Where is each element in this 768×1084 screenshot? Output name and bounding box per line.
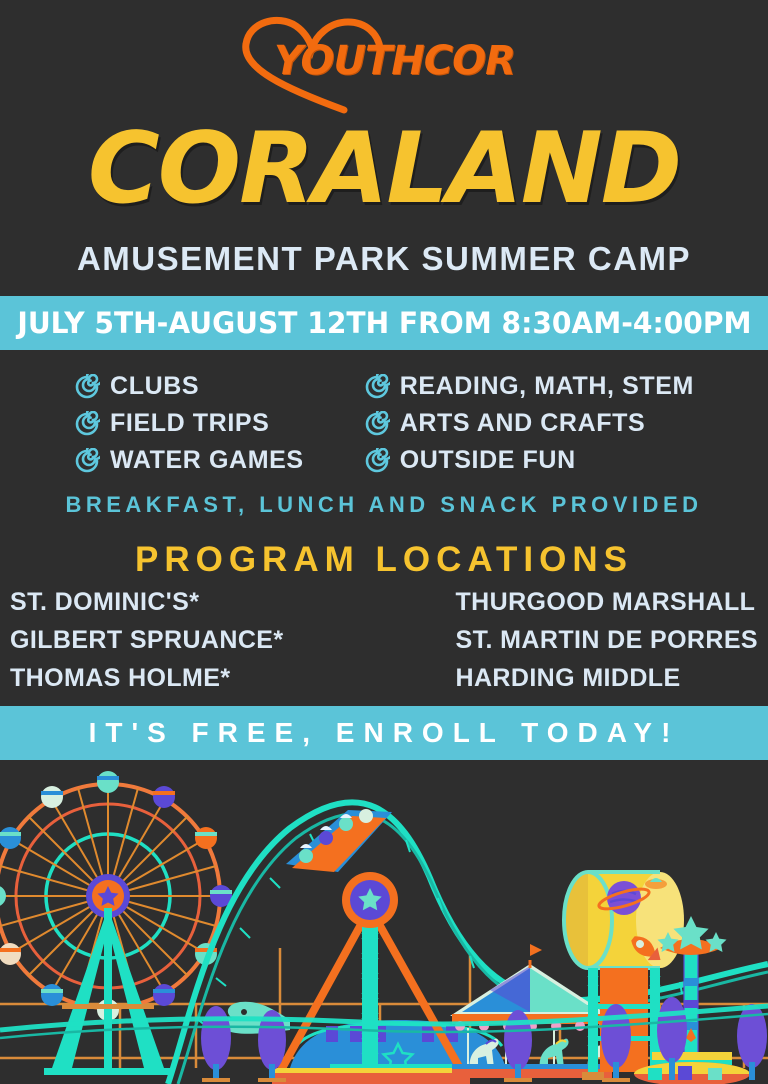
amusement-park-illustration: [0, 768, 768, 1084]
feature-label: FIELD TRIPS: [110, 409, 269, 438]
location-item: THOMAS HOLME*: [10, 664, 284, 693]
feature-item: CLUBS: [74, 372, 304, 401]
features-column-right: READING, MATH, STEM ARTS AND CRAFTS OUTS…: [364, 372, 694, 475]
location-item: HARDING MIDDLE: [456, 664, 681, 693]
feature-item: ARTS AND CRAFTS: [364, 409, 694, 438]
location-item: ST. MARTIN DE PORRES: [456, 626, 758, 655]
date-banner-text: JULY 5TH-AUGUST 12TH FROM 8:30AM-4:00PM: [17, 306, 751, 340]
feature-label: ARTS AND CRAFTS: [400, 409, 646, 438]
feature-item: READING, MATH, STEM: [364, 372, 694, 401]
spiral-icon: [74, 448, 100, 474]
spiral-icon: [364, 374, 390, 400]
feature-item: FIELD TRIPS: [74, 409, 304, 438]
feature-label: WATER GAMES: [110, 446, 304, 475]
meals-note: BREAKFAST, LUNCH AND SNACK PROVIDED: [0, 492, 768, 518]
feature-label: CLUBS: [110, 372, 199, 401]
logo-wordmark: YOUTHCOR: [274, 38, 515, 84]
cta-banner[interactable]: IT'S FREE, ENROLL TODAY!: [0, 706, 768, 760]
spiral-icon: [364, 448, 390, 474]
poster-root: YOUTHCOR CORALAND AMUSEMENT PARK SUMMER …: [0, 0, 768, 1084]
feature-label: OUTSIDE FUN: [400, 446, 576, 475]
feature-item: WATER GAMES: [74, 446, 304, 475]
location-item: THURGOOD MARSHALL: [456, 588, 756, 617]
feature-label: READING, MATH, STEM: [400, 372, 694, 401]
spiral-icon: [74, 411, 100, 437]
features-list: CLUBS FIELD TRIPS WATER GAMES READIN: [0, 372, 768, 475]
location-item: GILBERT SPRUANCE*: [10, 626, 284, 655]
spiral-icon: [74, 374, 100, 400]
locations-grid: ST. DOMINIC'S* GILBERT SPRUANCE* THOMAS …: [0, 588, 768, 693]
features-column-left: CLUBS FIELD TRIPS WATER GAMES: [74, 372, 304, 475]
page-title: CORALAND: [0, 118, 768, 221]
locations-heading: PROGRAM LOCATIONS: [0, 540, 768, 580]
brand-logo: YOUTHCOR: [0, 8, 768, 116]
spiral-icon: [364, 411, 390, 437]
date-banner: JULY 5TH-AUGUST 12TH FROM 8:30AM-4:00PM: [0, 296, 768, 350]
location-item: ST. DOMINIC'S*: [10, 588, 284, 617]
page-subtitle: AMUSEMENT PARK SUMMER CAMP: [0, 240, 768, 278]
cta-banner-text: IT'S FREE, ENROLL TODAY!: [89, 717, 680, 749]
locations-column-right: THURGOOD MARSHALL ST. MARTIN DE PORRES H…: [456, 588, 758, 693]
feature-item: OUTSIDE FUN: [364, 446, 694, 475]
locations-column-left: ST. DOMINIC'S* GILBERT SPRUANCE* THOMAS …: [10, 588, 284, 693]
